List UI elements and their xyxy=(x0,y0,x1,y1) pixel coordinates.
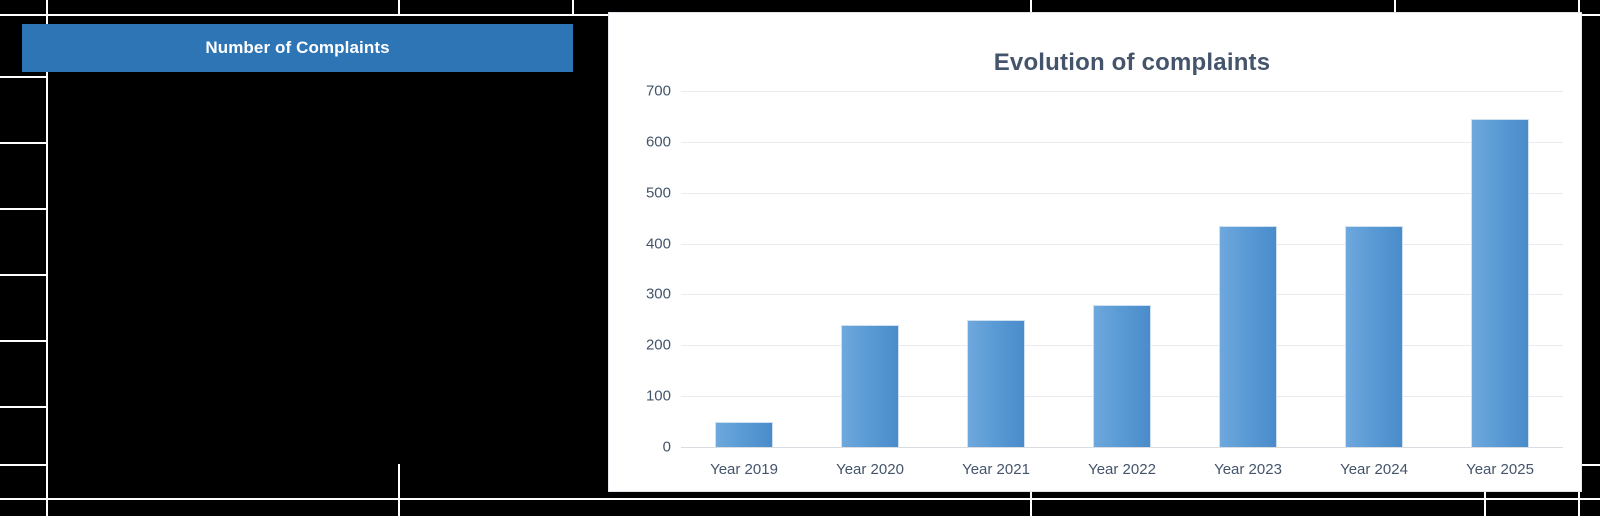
chart-bar[interactable] xyxy=(841,325,899,447)
chart-bar[interactable] xyxy=(1219,226,1277,447)
chart-bar-slot: Year 2019 xyxy=(681,91,807,447)
x-axis-tick-label: Year 2023 xyxy=(1214,461,1282,478)
chart-bar-slot: Year 2025 xyxy=(1437,91,1563,447)
y-axis-tick-label: 200 xyxy=(646,337,671,354)
header-cell-number-of-complaints[interactable]: Number of Complaints xyxy=(22,24,573,72)
chart-bar[interactable] xyxy=(1093,305,1151,447)
chart-bar-slot: Year 2022 xyxy=(1059,91,1185,447)
y-axis-tick-label: 300 xyxy=(646,286,671,303)
sheet-gridline-horizontal xyxy=(0,274,46,276)
y-axis-tick-label: 500 xyxy=(646,184,671,201)
x-axis-tick-label: Year 2022 xyxy=(1088,461,1156,478)
chart-bar[interactable] xyxy=(715,422,773,447)
x-axis-tick-label: Year 2024 xyxy=(1340,461,1408,478)
y-axis-tick-label: 600 xyxy=(646,133,671,150)
chart-title: Evolution of complaints xyxy=(609,49,1581,77)
sheet-gridline-horizontal xyxy=(0,406,46,408)
y-axis-tick-label: 400 xyxy=(646,235,671,252)
chart-bar[interactable] xyxy=(967,320,1025,447)
chart-bar-slot: Year 2023 xyxy=(1185,91,1311,447)
header-cell-label: Number of Complaints xyxy=(205,38,389,58)
chart-bars: Year 2019Year 2020Year 2021Year 2022Year… xyxy=(681,91,1563,447)
chart-plot-area: 7006005004003002001000 Year 2019Year 202… xyxy=(681,91,1563,447)
x-axis-tick-label: Year 2019 xyxy=(710,461,778,478)
sheet-gridline-vertical xyxy=(572,0,574,14)
y-axis-tick-label: 0 xyxy=(663,439,671,456)
bar-chart-object[interactable]: Evolution of complaints 7006005004003002… xyxy=(608,12,1582,492)
sheet-gridline-vertical xyxy=(398,0,400,14)
x-axis-tick-label: Year 2020 xyxy=(836,461,904,478)
sheet-gridline-horizontal xyxy=(0,208,46,210)
chart-bar[interactable] xyxy=(1471,119,1529,447)
x-axis-tick-label: Year 2021 xyxy=(962,461,1030,478)
y-axis-tick-label: 700 xyxy=(646,83,671,100)
sheet-gridline-horizontal xyxy=(0,340,46,342)
chart-bar-slot: Year 2021 xyxy=(933,91,1059,447)
chart-bar-slot: Year 2020 xyxy=(807,91,933,447)
sheet-gridline-horizontal xyxy=(0,142,46,144)
sheet-gridline-horizontal xyxy=(0,498,1600,500)
chart-bar-slot: Year 2024 xyxy=(1311,91,1437,447)
sheet-gridline-horizontal xyxy=(0,464,46,466)
chart-gridline: 0 xyxy=(681,447,1563,448)
y-axis-tick-label: 100 xyxy=(646,388,671,405)
x-axis-tick-label: Year 2025 xyxy=(1466,461,1534,478)
sheet-gridline-vertical xyxy=(398,464,400,516)
sheet-gridline-horizontal xyxy=(0,76,46,78)
sheet-gridline-vertical xyxy=(46,0,48,516)
chart-bar[interactable] xyxy=(1345,226,1403,447)
